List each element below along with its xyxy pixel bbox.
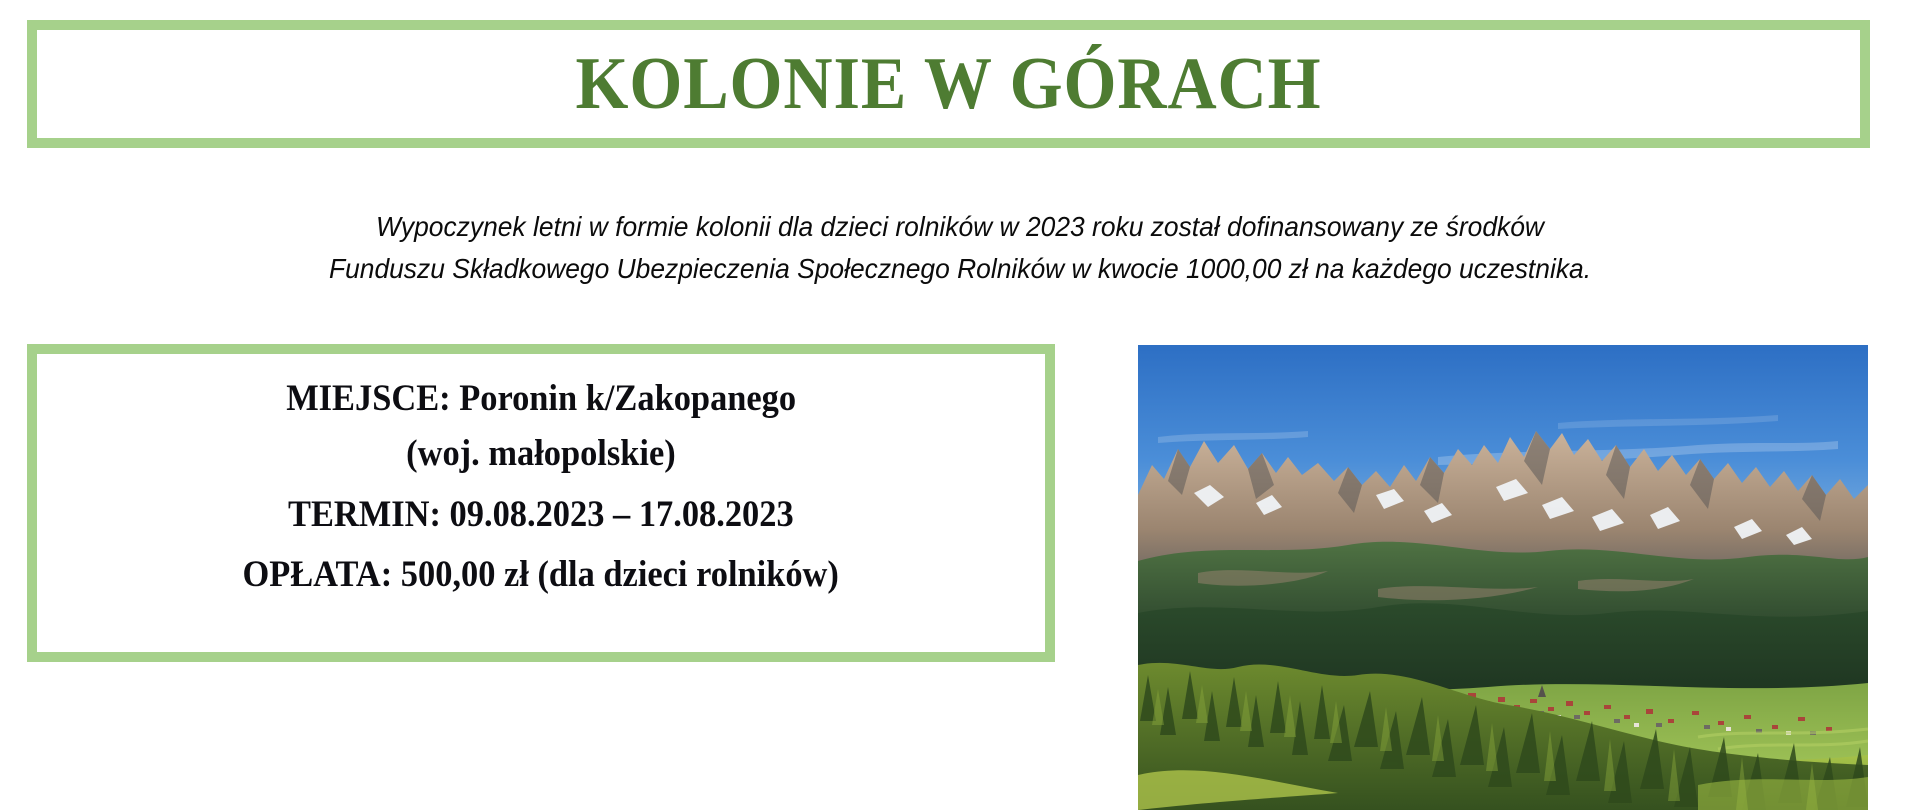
funding-statement-line-2: Funduszu Składkowego Ubezpieczenia Społe…	[38, 248, 1881, 290]
title-banner: KOLONIE W GÓRACH	[27, 20, 1870, 148]
detail-voivodeship: (woj. małopolskie)	[406, 427, 676, 482]
detail-location: MIEJSCE: Poronin k/Zakopanego	[286, 372, 796, 427]
page-title: KOLONIE W GÓRACH	[575, 47, 1321, 121]
mountain-landscape-illustration	[1138, 345, 1868, 810]
mountain-landscape-photo	[1138, 345, 1868, 810]
detail-fee: OPŁATA: 500,00 zł (dla dzieci rolników)	[243, 548, 839, 603]
funding-statement-line-1: Wypoczynek letni w formie kolonii dla dz…	[38, 206, 1881, 248]
detail-term: TERMIN: 09.08.2023 – 17.08.2023	[288, 488, 794, 543]
funding-statement: Wypoczynek letni w formie kolonii dla dz…	[0, 206, 1920, 290]
details-box: MIEJSCE: Poronin k/Zakopanego (woj. mało…	[27, 344, 1055, 662]
